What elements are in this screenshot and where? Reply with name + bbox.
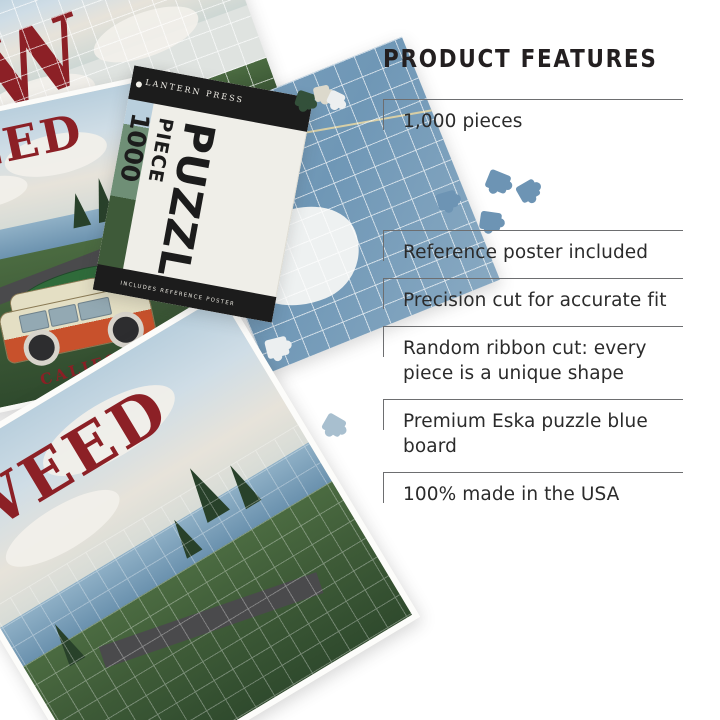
feature-item: Reference poster included	[383, 230, 683, 269]
feature-item: Premium Eska puzzle blue board	[383, 399, 683, 463]
feature-item: 100% made in the USA	[383, 472, 683, 511]
product-features-panel: PRODUCT FEATURES 1,000 pieces Reference …	[383, 44, 683, 520]
lantern-press-dot-icon	[135, 81, 142, 88]
product-image-canvas: W WEED CALIFORNIA	[0, 0, 720, 720]
feature-item: 1,000 pieces	[383, 99, 683, 138]
feature-label: 100% made in the USA	[403, 482, 683, 507]
loose-puzzle-piece	[321, 412, 347, 438]
feature-item: Random ribbon cut: every piece is a uniq…	[383, 326, 683, 390]
feature-label: Precision cut for accurate fit	[403, 288, 683, 313]
feature-label: 1,000 pieces	[403, 109, 683, 134]
feature-label: Premium Eska puzzle blue board	[403, 409, 683, 459]
feature-label: Random ribbon cut: every piece is a uniq…	[403, 336, 683, 386]
feature-label: Reference poster included	[403, 240, 683, 265]
feature-item: Precision cut for accurate fit	[383, 278, 683, 317]
page-title: PRODUCT FEATURES	[383, 44, 641, 73]
